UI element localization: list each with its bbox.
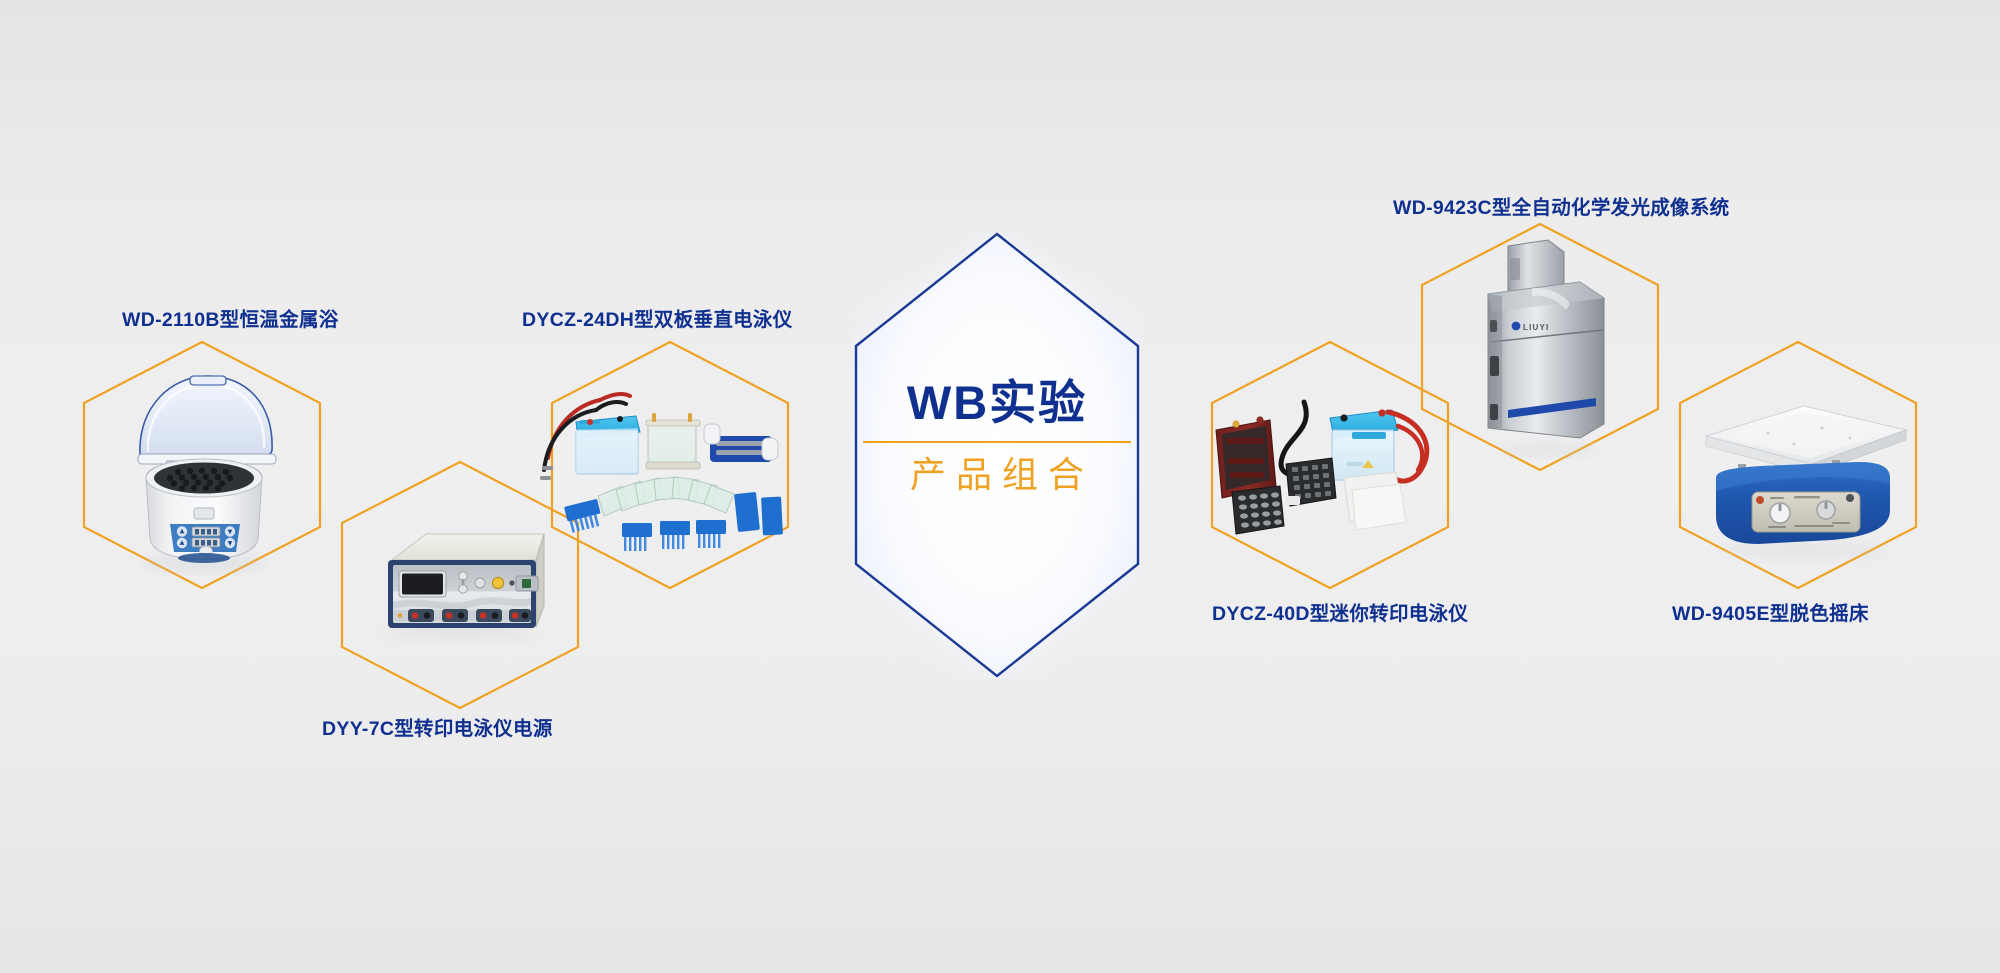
adjust-knob-lower[interactable] [459, 585, 467, 593]
filter-papers [1344, 472, 1406, 530]
side-port [1490, 320, 1497, 332]
grid-cassette-b [1232, 486, 1284, 534]
product-image-shaker [1682, 400, 1922, 570]
start-knob[interactable] [492, 577, 503, 588]
hero-text-block: WB实验 产品组合 [787, 378, 1207, 495]
grid-cassette-a [1286, 458, 1336, 506]
svg-text:LIUYI: LIUYI [1523, 323, 1549, 332]
lcd-display [402, 574, 443, 595]
hero-divider [863, 441, 1131, 443]
side-slot[interactable] [1490, 356, 1499, 376]
adjust-knob-upper[interactable] [459, 572, 467, 580]
power-indicator [1846, 494, 1854, 502]
side-latch[interactable] [1490, 404, 1498, 420]
tank-red-terminal [587, 419, 593, 425]
shaker-control-panel[interactable] [1752, 492, 1860, 532]
brand-dot [1756, 496, 1764, 504]
product-image-power-supply [368, 510, 552, 650]
casting-stand [704, 424, 778, 462]
indicator-led [509, 580, 514, 585]
buffer-tank [576, 416, 640, 474]
label-dyy-7c: DYY-7C型转印电泳仪电源 [322, 712, 553, 741]
glass-plates [598, 477, 734, 516]
tank-black-terminal [617, 416, 623, 422]
glass-cassette [646, 413, 700, 469]
holder-terminal-b [1256, 416, 1263, 423]
holder-terminal-a [1232, 420, 1239, 427]
label-wd-9405e: WD-9405E型脱色摇床 [1672, 597, 1869, 626]
hero-subtitle: 产品组合 [787, 455, 1207, 495]
poster-canvas: WB实验 产品组合 [0, 0, 2000, 973]
tank-black-terminal [1340, 414, 1347, 421]
product-image-vertical-electrophoresis [540, 366, 802, 566]
product-image-metal-bath [112, 358, 292, 576]
label-wd-2110b: WD-2110B型恒温金属浴 [122, 303, 339, 332]
transfer-cassette-holder [1216, 416, 1276, 498]
brand-badge [178, 553, 230, 563]
label-dycz-24dh: DYCZ-24DH型双板垂直电泳仪 [522, 303, 793, 332]
label-wd-9423c: WD-9423C型全自动化学发光成像系统 [1393, 191, 1729, 220]
hero-title: WB实验 [787, 378, 1207, 427]
label-dycz-40d: DYCZ-40D型迷你转印电泳仪 [1212, 597, 1468, 626]
lid-dome [140, 376, 272, 458]
product-image-imager: LIUYI [1472, 238, 1622, 460]
transfer-tank [1330, 409, 1398, 480]
spacer-plates [734, 492, 783, 536]
mode-knob[interactable] [475, 578, 485, 588]
tank-red-terminal [1378, 409, 1385, 416]
chassis-top [392, 534, 544, 560]
gel-combs [564, 499, 726, 551]
